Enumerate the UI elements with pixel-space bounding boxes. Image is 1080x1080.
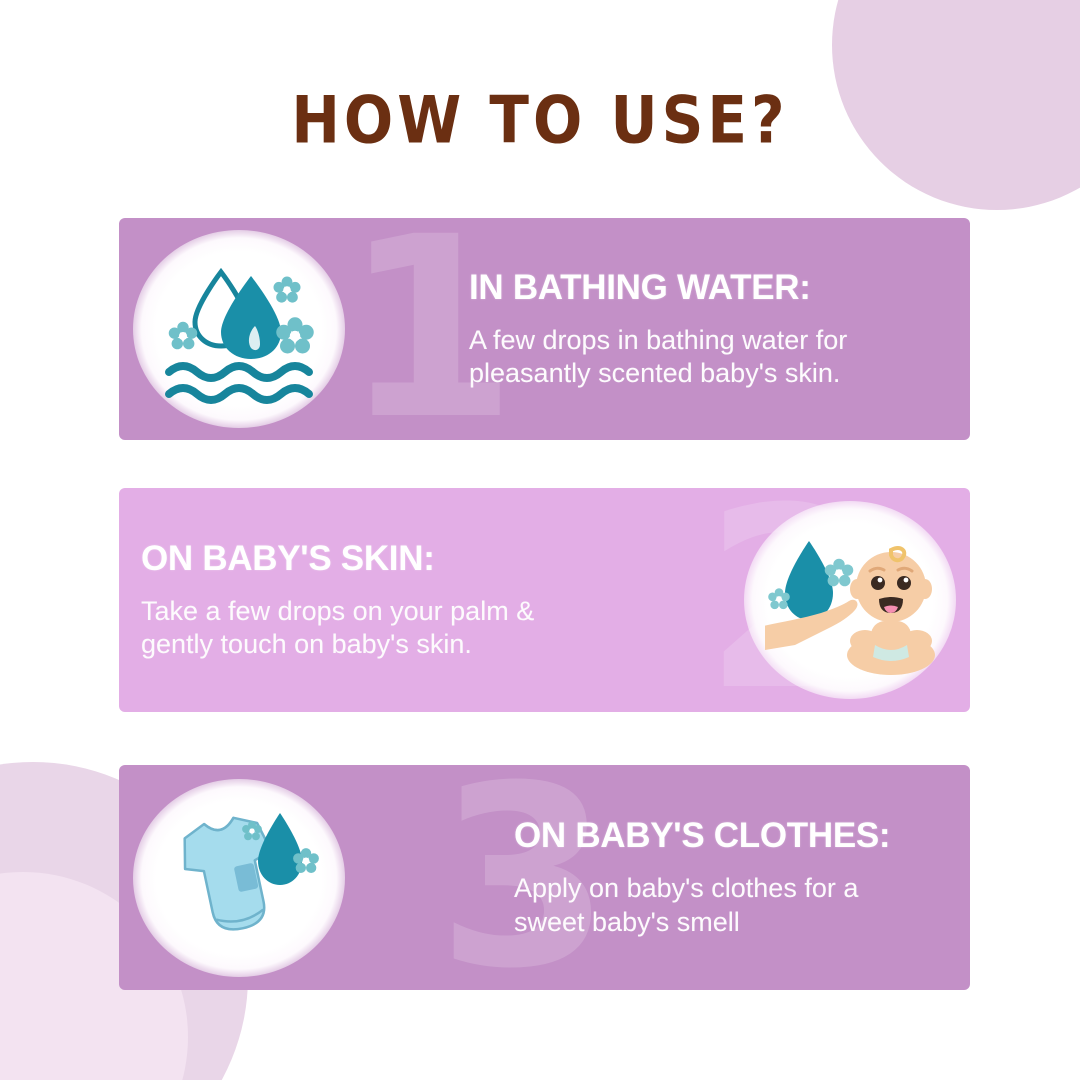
baby-onesie-drop-icon (154, 803, 324, 953)
step-3-body-line-2: sweet baby's smell (514, 906, 952, 939)
water-waves (169, 366, 309, 400)
step-2-body: Take a few drops on your palm & gently t… (141, 595, 690, 662)
step-1-body-line-1: A few drops in bathing water for (469, 324, 950, 357)
step-1-text: IN BATHING WATER: A few drops in bathing… (359, 268, 970, 391)
water-drop-waves-icon (159, 254, 319, 404)
step-2-heading: ON BABY'S SKIN: (141, 539, 690, 579)
page-title: HOW TO USE? (0, 82, 1080, 158)
step-2-text: ON BABY'S SKIN: Take a few drops on your… (119, 539, 730, 662)
step-2-icon-circle (744, 501, 956, 699)
step-card-3: 3 (119, 765, 970, 990)
step-2-body-line-2: gently touch on baby's skin. (141, 628, 690, 661)
step-2-body-line-1: Take a few drops on your palm & (141, 595, 690, 628)
step-3-body-line-1: Apply on baby's clothes for a (514, 872, 952, 905)
step-3-heading: ON BABY'S CLOTHES: (514, 816, 952, 856)
step-1-body-line-2: pleasantly scented baby's skin. (469, 357, 950, 390)
step-1-body: A few drops in bathing water for pleasan… (469, 324, 950, 391)
step-1-heading: IN BATHING WATER: (469, 268, 950, 308)
step-3-body: Apply on baby's clothes for a sweet baby… (514, 872, 952, 939)
infographic-canvas: HOW TO USE? 1 (0, 0, 1080, 1080)
step-3-icon-circle (133, 779, 345, 977)
step-card-2: 2 (119, 488, 970, 712)
step-3-text: ON BABY'S CLOTHES: Apply on baby's cloth… (359, 816, 970, 939)
baby-figure (847, 548, 935, 675)
step-1-icon-circle (133, 230, 345, 428)
hand-drop-baby-icon (765, 523, 935, 678)
step-card-1: 1 (119, 218, 970, 440)
